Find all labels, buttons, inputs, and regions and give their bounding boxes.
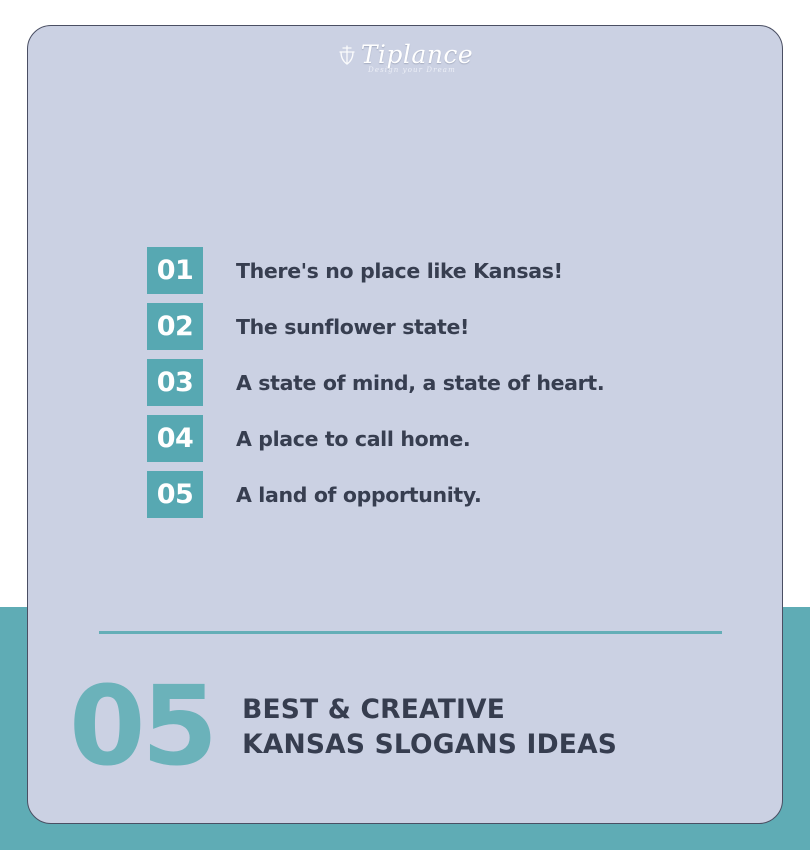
- logo-mark-icon: [337, 44, 357, 66]
- slogan-number-badge: 03: [147, 359, 203, 406]
- slogan-text: The sunflower state!: [236, 315, 469, 339]
- slogan-card: Tiplance Design your Dream 01 There's no…: [27, 25, 783, 824]
- list-item: 03 A state of mind, a state of heart.: [147, 359, 747, 406]
- list-item: 02 The sunflower state!: [147, 303, 747, 350]
- slogan-text: There's no place like Kansas!: [236, 259, 563, 283]
- footer: 05 BEST & CREATIVE KANSAS SLOGANS IDEAS: [69, 671, 617, 781]
- list-item: 01 There's no place like Kansas!: [147, 247, 747, 294]
- slogan-text: A land of opportunity.: [236, 483, 481, 507]
- list-item: 05 A land of opportunity.: [147, 471, 747, 518]
- slogan-number-badge: 01: [147, 247, 203, 294]
- slogan-number-badge: 05: [147, 471, 203, 518]
- slogan-number-badge: 02: [147, 303, 203, 350]
- page-title: BEST & CREATIVE KANSAS SLOGANS IDEAS: [242, 693, 617, 763]
- brand-logo-row: Tiplance: [337, 42, 473, 67]
- footer-count-number: 05: [69, 671, 214, 781]
- page-title-line-1: BEST & CREATIVE: [242, 694, 505, 725]
- brand-name: Tiplance: [361, 42, 473, 67]
- slogan-text: A state of mind, a state of heart.: [236, 371, 604, 395]
- list-item: 04 A place to call home.: [147, 415, 747, 462]
- page-title-line-2: KANSAS SLOGANS IDEAS: [242, 728, 617, 763]
- slogan-text: A place to call home.: [236, 427, 470, 451]
- brand-logo: Tiplance Design your Dream: [28, 42, 782, 74]
- brand-tagline: Design your Dream: [42, 67, 782, 74]
- slogan-number-badge: 04: [147, 415, 203, 462]
- section-divider: [99, 631, 722, 634]
- slogan-list: 01 There's no place like Kansas! 02 The …: [147, 247, 747, 527]
